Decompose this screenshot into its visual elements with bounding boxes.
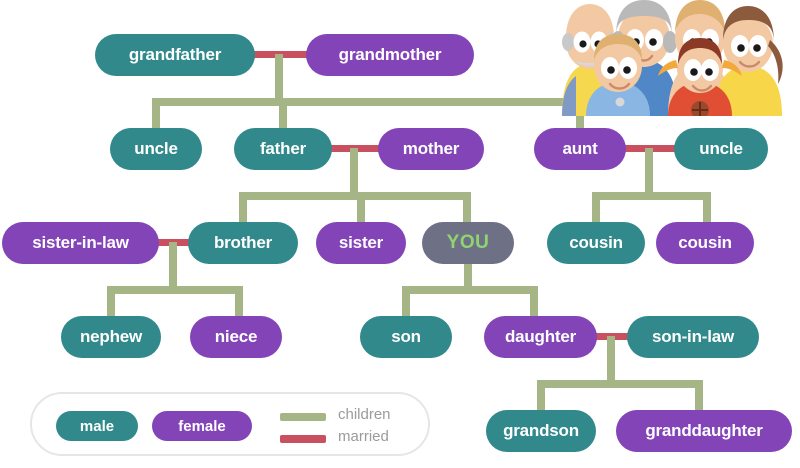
legend-married-label: married	[338, 428, 389, 445]
connector-drop-daughter-family	[607, 336, 615, 384]
node-label-son-in-law: son-in-law	[652, 327, 734, 347]
connector-riser-nephew	[107, 286, 115, 320]
node-label-father: father	[260, 139, 306, 159]
connector-riser-cousin-1	[592, 192, 600, 226]
connector-bus-grandparents	[152, 98, 584, 106]
legend-children-label: children	[338, 406, 391, 423]
node-grandmother[interactable]: grandmother	[306, 34, 474, 76]
node-father[interactable]: father	[234, 128, 332, 170]
connector-riser-grandson	[537, 380, 545, 414]
node-label-aunt: aunt	[562, 139, 597, 159]
node-uncle-right[interactable]: uncle	[674, 128, 768, 170]
node-label-daughter: daughter	[505, 327, 576, 347]
legend-chip-male: male	[56, 411, 138, 441]
connector-drop-parents	[350, 148, 358, 196]
connector-bus-parents	[239, 192, 471, 200]
node-label-brother: brother	[214, 233, 272, 253]
node-label-uncle-right: uncle	[699, 139, 742, 159]
node-label-uncle-left: uncle	[134, 139, 177, 159]
connector-bus-you	[402, 286, 538, 294]
node-label-grandmother: grandmother	[339, 45, 442, 65]
node-label-niece: niece	[215, 327, 257, 347]
node-sister[interactable]: sister	[316, 222, 406, 264]
connector-bus-brother-family	[107, 286, 243, 294]
connector-riser-brother	[239, 192, 247, 226]
legend-swatch-children	[280, 413, 326, 421]
connector-drop-brother-family	[169, 242, 177, 290]
legend-male-label: male	[80, 418, 114, 435]
node-label-mother: mother	[403, 139, 459, 159]
node-granddaughter[interactable]: granddaughter	[616, 410, 792, 452]
legend-box: male female children married	[30, 392, 430, 456]
family-tree-diagram: grandfathergrandmotherunclefathermothera…	[0, 0, 800, 468]
connector-riser-sister	[357, 192, 365, 226]
node-label-sister: sister	[339, 233, 383, 253]
node-label-cousin-1: cousin	[569, 233, 623, 253]
legend-chip-female: female	[152, 411, 252, 441]
node-label-son: son	[391, 327, 421, 347]
node-brother[interactable]: brother	[188, 222, 298, 264]
legend-female-label: female	[178, 418, 226, 435]
cartoon-family-photo-illustration	[548, 0, 800, 116]
node-label-granddaughter: granddaughter	[645, 421, 762, 441]
node-label-grandfather: grandfather	[129, 45, 221, 65]
connector-riser-granddaughter	[695, 380, 703, 414]
node-label-sister-in-law: sister-in-law	[32, 233, 129, 253]
node-you[interactable]: YOU	[422, 222, 514, 264]
node-niece[interactable]: niece	[190, 316, 282, 358]
node-nephew[interactable]: nephew	[61, 316, 161, 358]
node-mother[interactable]: mother	[378, 128, 484, 170]
connector-riser-son	[402, 286, 410, 320]
connector-riser-daughter	[530, 286, 538, 320]
node-son[interactable]: son	[360, 316, 452, 358]
node-son-in-law[interactable]: son-in-law	[627, 316, 759, 358]
node-label-grandson: grandson	[503, 421, 579, 441]
node-sister-in-law[interactable]: sister-in-law	[2, 222, 159, 264]
connector-riser-niece	[235, 286, 243, 320]
node-grandfather[interactable]: grandfather	[95, 34, 255, 76]
node-aunt[interactable]: aunt	[534, 128, 626, 170]
connector-bus-aunt-uncle	[592, 192, 711, 200]
connector-riser-you	[463, 192, 471, 226]
node-label-you: YOU	[447, 232, 490, 254]
node-label-nephew: nephew	[80, 327, 142, 347]
connector-drop-aunt-uncle	[645, 148, 653, 196]
node-grandson[interactable]: grandson	[486, 410, 596, 452]
node-cousin-2[interactable]: cousin	[656, 222, 754, 264]
node-daughter[interactable]: daughter	[484, 316, 597, 358]
connector-riser-cousin-2	[703, 192, 711, 226]
connector-drop-grandparents	[275, 54, 283, 102]
node-label-cousin-2: cousin	[678, 233, 732, 253]
connector-bus-daughter-family	[537, 380, 703, 388]
node-uncle-left[interactable]: uncle	[110, 128, 202, 170]
node-cousin-1[interactable]: cousin	[547, 222, 645, 264]
legend-swatch-married	[280, 435, 326, 443]
